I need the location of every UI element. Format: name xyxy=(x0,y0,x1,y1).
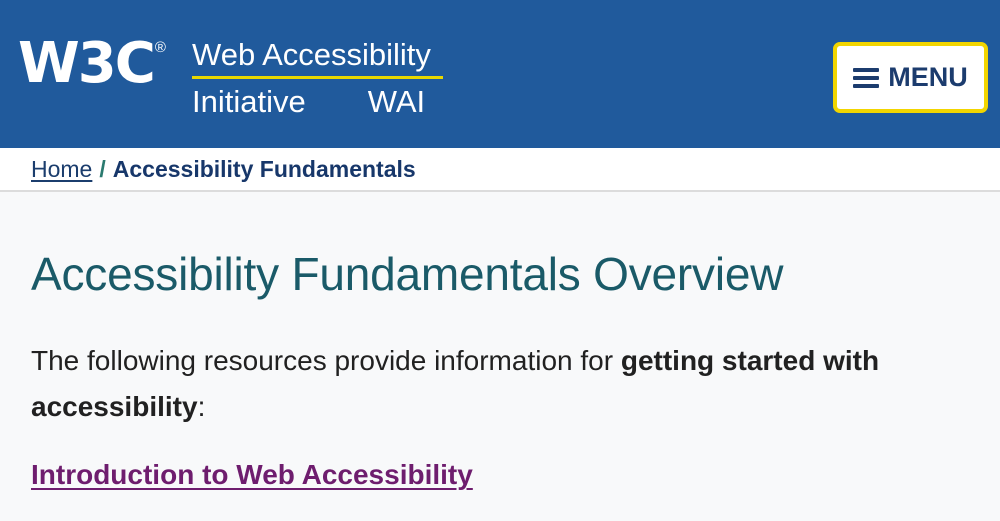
brand-initiative-text: Initiative xyxy=(192,83,306,121)
breadcrumb-separator: / xyxy=(99,158,105,181)
breadcrumb-item-home[interactable]: Home xyxy=(31,158,92,181)
breadcrumb: Home / Accessibility Fundamentals xyxy=(0,148,1000,192)
brand-line-initiative-wai: Initiative WAI xyxy=(192,83,443,121)
brand-line-web-accessibility: Web Accessibility xyxy=(192,36,443,74)
breadcrumb-list: Home / Accessibility Fundamentals xyxy=(31,158,416,181)
link-introduction-to-web-accessibility[interactable]: Introduction to Web Accessibility xyxy=(31,458,473,492)
menu-button[interactable]: MENU xyxy=(833,42,988,113)
menu-button-label: MENU xyxy=(888,64,968,91)
intro-paragraph-suffix: : xyxy=(198,391,206,422)
intro-paragraph-prefix: The following resources provide informat… xyxy=(31,345,621,376)
breadcrumb-item-current: Accessibility Fundamentals xyxy=(113,158,416,181)
w3c-logo[interactable]: W3C ® xyxy=(18,36,166,92)
brand-divider xyxy=(192,76,443,79)
page-title: Accessibility Fundamentals Overview xyxy=(31,192,969,301)
registered-trademark-icon: ® xyxy=(155,40,166,55)
site-header: W3C ® Web Accessibility Initiative WAI M… xyxy=(0,0,1000,148)
main-content: Accessibility Fundamentals Overview The … xyxy=(0,192,1000,521)
intro-paragraph: The following resources provide informat… xyxy=(31,301,969,430)
brand-wai-text: WAI xyxy=(368,83,425,121)
brand-title-block: Web Accessibility Initiative WAI xyxy=(192,36,443,121)
w3c-logo-text: W3C xyxy=(18,36,154,92)
hamburger-icon xyxy=(853,68,879,88)
